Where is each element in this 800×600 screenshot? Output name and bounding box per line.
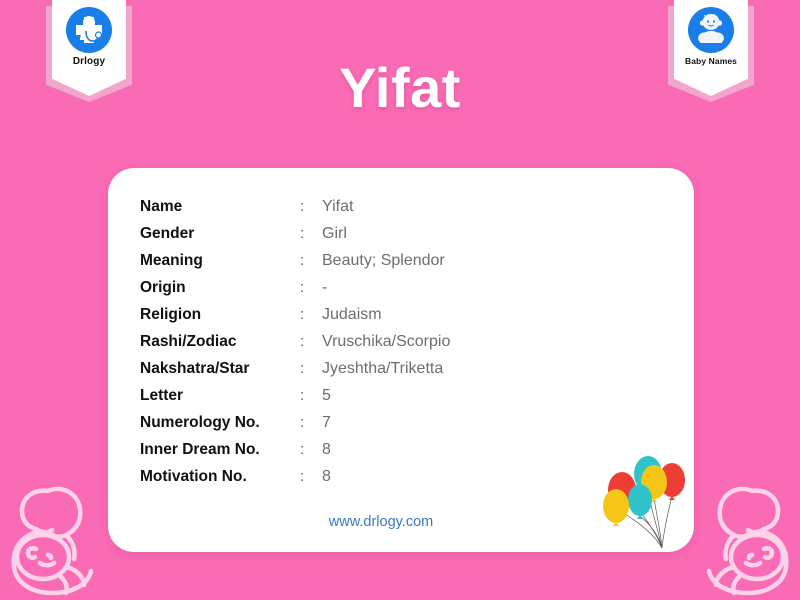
balloons-illustration — [592, 440, 688, 552]
row-separator: : — [300, 463, 322, 490]
row-separator: : — [300, 328, 322, 355]
row-separator: : — [300, 220, 322, 247]
row-value: Beauty; Splendor — [322, 247, 445, 274]
row-value: 8 — [322, 463, 331, 490]
table-row: Name : Yifat — [140, 193, 450, 220]
row-separator: : — [300, 193, 322, 220]
table-row: Inner Dream No. : 8 — [140, 436, 450, 463]
baby-icon — [688, 7, 734, 53]
row-value: Yifat — [322, 193, 353, 220]
row-label: Nakshatra/Star — [140, 355, 300, 382]
table-row: Letter : 5 — [140, 382, 450, 409]
row-label: Religion — [140, 301, 300, 328]
row-label: Name — [140, 193, 300, 220]
row-separator: : — [300, 247, 322, 274]
row-separator: : — [300, 355, 322, 382]
row-label: Meaning — [140, 247, 300, 274]
table-row: Nakshatra/Star : Jyeshtha/Triketta — [140, 355, 450, 382]
mother-and-baby-icon-right — [694, 475, 800, 600]
row-value: - — [322, 274, 327, 301]
table-row: Rashi/Zodiac : Vruschika/Scorpio — [140, 328, 450, 355]
table-row: Meaning : Beauty; Splendor — [140, 247, 450, 274]
name-info-card: Name : Yifat Gender : Girl Meaning : Bea… — [108, 168, 694, 552]
row-separator: : — [300, 409, 322, 436]
row-value: Girl — [322, 220, 347, 247]
table-row: Gender : Girl — [140, 220, 450, 247]
row-separator: : — [300, 382, 322, 409]
table-row: Numerology No. : 7 — [140, 409, 450, 436]
row-value: 7 — [322, 409, 331, 436]
row-label: Letter — [140, 382, 300, 409]
row-label: Gender — [140, 220, 300, 247]
website-link[interactable]: www.drlogy.com — [108, 514, 694, 530]
row-value: 8 — [322, 436, 331, 463]
row-value: Vruschika/Scorpio — [322, 328, 450, 355]
table-row: Origin : - — [140, 274, 450, 301]
row-value: 5 — [322, 382, 331, 409]
row-label: Rashi/Zodiac — [140, 328, 300, 355]
row-separator: : — [300, 274, 322, 301]
drlogy-doctor-icon — [66, 7, 112, 53]
table-row: Motivation No. : 8 — [140, 463, 450, 490]
mother-and-baby-icon-left — [0, 475, 106, 600]
row-label: Origin — [140, 274, 300, 301]
row-separator: : — [300, 301, 322, 328]
page-title: Yifat — [0, 60, 800, 116]
row-label: Inner Dream No. — [140, 436, 300, 463]
row-value: Judaism — [322, 301, 382, 328]
row-label: Motivation No. — [140, 463, 300, 490]
table-row: Religion : Judaism — [140, 301, 450, 328]
name-details-table: Name : Yifat Gender : Girl Meaning : Bea… — [140, 193, 450, 490]
row-value: Jyeshtha/Triketta — [322, 355, 443, 382]
row-separator: : — [300, 436, 322, 463]
row-label: Numerology No. — [140, 409, 300, 436]
